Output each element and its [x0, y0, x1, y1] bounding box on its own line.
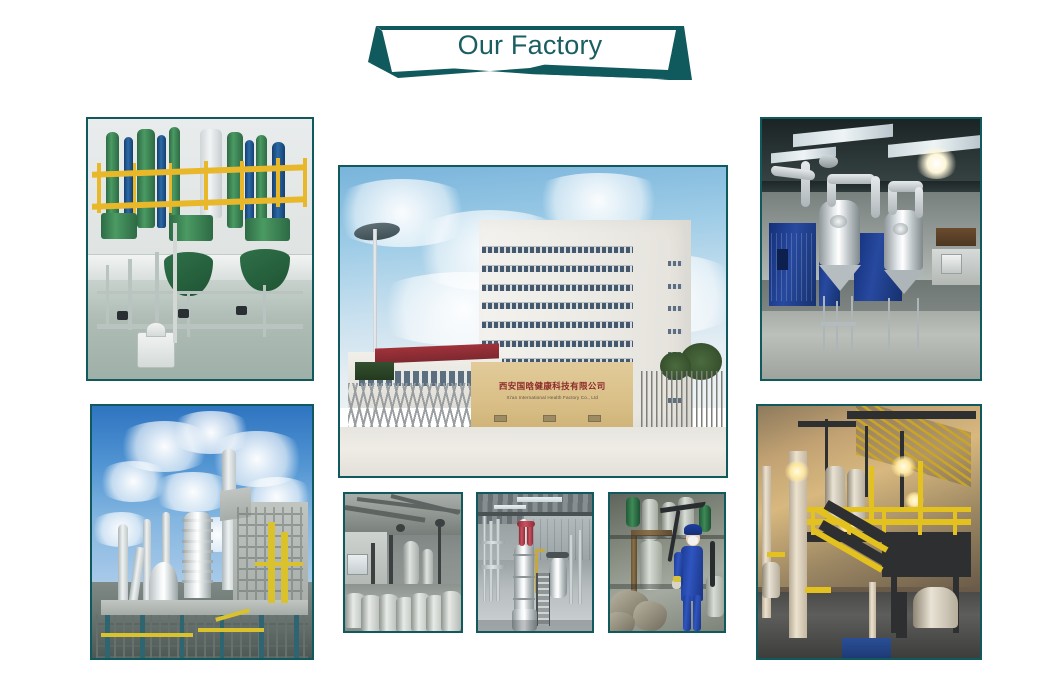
- photo-center-main: 西安国晗健康科技有限公司 Xi'an International Health …: [338, 165, 728, 478]
- photo-center-main-image: 西安国晗健康科技有限公司 Xi'an International Health …: [340, 167, 726, 476]
- factory-sign-english: Xi'an International Health Factory Co., …: [471, 395, 633, 400]
- photo-strip-1: [343, 492, 463, 633]
- photo-strip-3-image: [610, 494, 724, 631]
- factory-sign-wall: 西安国晗健康科技有限公司 Xi'an International Health …: [471, 362, 633, 430]
- page-title: Our Factory: [368, 22, 692, 68]
- photo-bottom-left: [90, 404, 314, 660]
- photo-strip-2-image: [478, 494, 592, 631]
- photo-bottom-left-image: [92, 406, 312, 658]
- photo-strip-1-image: [345, 494, 461, 631]
- photo-strip-2: [476, 492, 594, 633]
- photo-top-right: [760, 117, 982, 381]
- photo-top-left-image: [88, 119, 312, 379]
- photo-bottom-right: [756, 404, 982, 660]
- photo-top-left: [86, 117, 314, 381]
- photo-top-right-image: [762, 119, 980, 379]
- factory-sign-chinese: 西安国晗健康科技有限公司: [471, 380, 633, 392]
- page-banner: Our Factory: [368, 22, 692, 82]
- photo-bottom-right-image: [758, 406, 980, 658]
- photo-strip-3: [608, 492, 726, 633]
